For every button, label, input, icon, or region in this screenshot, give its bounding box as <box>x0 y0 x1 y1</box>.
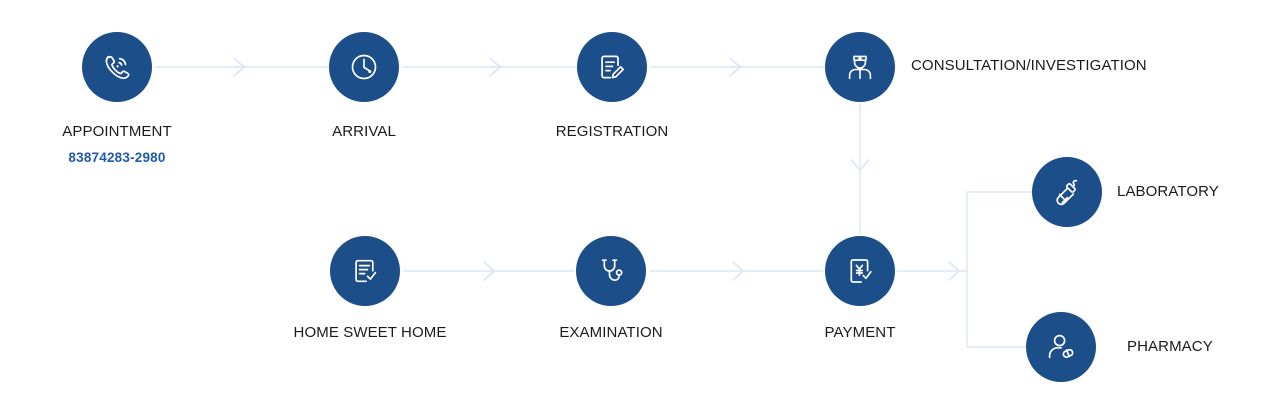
connector-home-to-examination <box>404 262 574 280</box>
connector-payment-to-branch <box>897 262 967 280</box>
label-registration: REGISTRATION <box>556 124 669 141</box>
label-home-sweet-home: HOME SWEET HOME <box>294 325 447 342</box>
stethoscope-icon <box>594 254 628 288</box>
patient-flow-diagram: APPOINTMENT 83874283-2980 ARRIVAL REGIST… <box>0 0 1280 400</box>
label-pharmacy: PHARMACY <box>1127 339 1213 356</box>
label-examination: EXAMINATION <box>559 325 662 342</box>
phone-call-icon <box>100 50 134 84</box>
node-home-sweet-home[interactable] <box>330 236 400 306</box>
label-appointment: APPOINTMENT <box>62 124 171 141</box>
appointment-phone-number: 83874283-2980 <box>68 150 165 165</box>
node-payment[interactable] <box>825 236 895 306</box>
label-payment: PAYMENT <box>825 325 896 342</box>
node-appointment[interactable] <box>82 32 152 102</box>
label-laboratory: LABORATORY <box>1117 184 1219 201</box>
node-laboratory[interactable] <box>1032 157 1102 227</box>
clock-icon <box>347 50 381 84</box>
connector-registration-to-consultation <box>651 58 823 76</box>
connector-examination-to-payment <box>650 262 823 280</box>
connector-appointment-to-arrival <box>156 58 327 76</box>
node-consultation[interactable] <box>825 32 895 102</box>
connector-consultation-to-payment <box>851 104 869 234</box>
node-examination[interactable] <box>576 236 646 306</box>
label-arrival: ARRIVAL <box>332 124 396 141</box>
connector-arrival-to-registration <box>403 58 575 76</box>
doctor-icon <box>843 50 877 84</box>
person-pills-icon <box>1044 330 1078 364</box>
document-check-icon <box>348 254 382 288</box>
dropper-icon <box>1050 175 1084 209</box>
node-pharmacy[interactable] <box>1026 312 1096 382</box>
label-consultation: CONSULTATION/INVESTIGATION <box>911 58 1147 75</box>
document-edit-icon <box>595 50 629 84</box>
receipt-yen-check-icon <box>843 254 877 288</box>
connector-branch-bracket <box>967 192 1032 347</box>
node-registration[interactable] <box>577 32 647 102</box>
node-arrival[interactable] <box>329 32 399 102</box>
